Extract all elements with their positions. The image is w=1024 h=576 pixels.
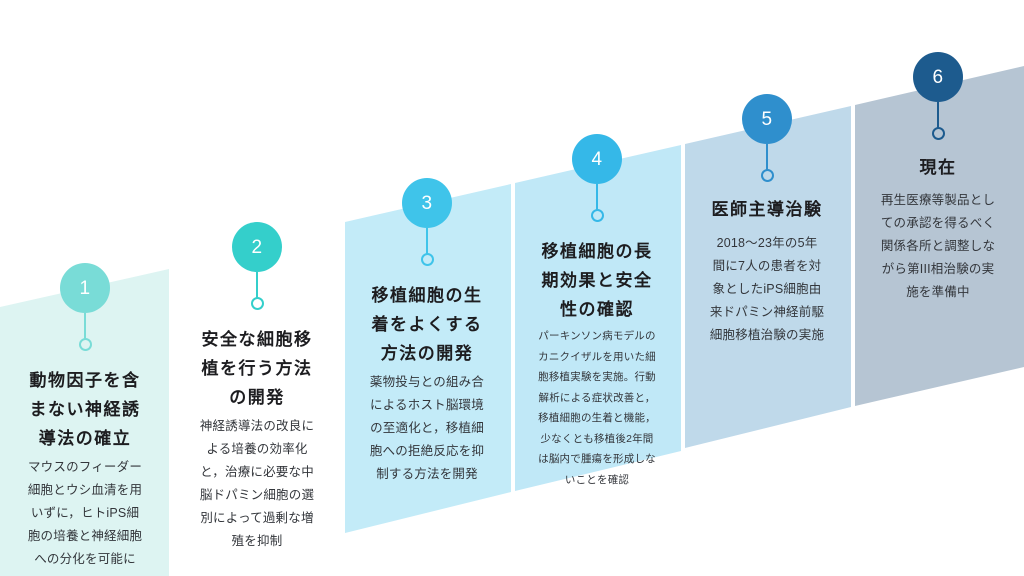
step-body-line: 胞移植実験を実施。行動 (512, 367, 682, 388)
timeline-step-5[interactable]: 5 医師主導治験 2018〜23年の5年 間に7人の患者を対 象としたiPS細胞… (682, 94, 852, 448)
step-body-line: 象としたiPS細胞由 (682, 278, 852, 301)
step-number-label-5: 5 (761, 110, 772, 129)
step-title-line: 性の確認 (512, 295, 682, 324)
step-title-line: 動物因子を含 (0, 366, 170, 395)
step-number-badge-1[interactable]: 1 (60, 263, 110, 313)
step-connector-line-5 (766, 144, 768, 170)
step-body-3: 薬物投与との組み合 によるホスト脳環境 の至適化と，移植細 胞への拒絶反応を抑 … (342, 371, 512, 486)
step-body-line: 移植細胞の生着と機能， (512, 408, 682, 429)
step-body-2: 神経誘導法の改良に よる培養の効率化 と，治療に必要な中 脳ドパミン細胞の選 別… (172, 415, 342, 553)
step-number-badge-4[interactable]: 4 (572, 134, 622, 184)
step-body-line: 来ドパミン神経前駆 (682, 301, 852, 324)
step-connector-ring-6 (932, 127, 945, 140)
step-title-line: 移植細胞の長 (512, 237, 682, 266)
timeline-step-3[interactable]: 3 移植細胞の生 着をよくする 方法の開発 薬物投与との組み合 によるホスト脳環… (342, 178, 512, 533)
step-body-line: への分化を可能に (0, 548, 170, 571)
step-body-line: と，治療に必要な中 (172, 461, 342, 484)
step-body-line: 胞への拒絶反応を抑 (342, 440, 512, 463)
step-connector-ring-4 (591, 209, 604, 222)
step-title-line: 安全な細胞移 (172, 325, 342, 354)
step-title-4: 移植細胞の長 期効果と安全 性の確認 (512, 237, 682, 324)
step-number-label-2: 2 (251, 238, 262, 257)
step-body-line: 再生医療等製品とし (852, 189, 1024, 212)
step-connector-line-4 (596, 184, 598, 210)
step-body-line: 細胞移植治験の実施 (682, 324, 852, 347)
step-body-line: 細胞とウシ血清を用 (0, 479, 170, 502)
step-connector-line-6 (937, 102, 939, 128)
step-title-line: 現在 (852, 153, 1024, 182)
step-title-3: 移植細胞の生 着をよくする 方法の開発 (342, 281, 512, 368)
step-body-line: 脳ドパミン細胞の選 (172, 484, 342, 507)
step-number-badge-5[interactable]: 5 (742, 94, 792, 144)
step-body-line: 胞の培養と神経細胞 (0, 525, 170, 548)
step-title-line: まない神経誘 (0, 395, 170, 424)
step-body-line: カニクイザルを用いた細 (512, 347, 682, 368)
step-number-label-4: 4 (591, 150, 602, 169)
step-body-5: 2018〜23年の5年 間に7人の患者を対 象としたiPS細胞由 来ドパミン神経… (682, 232, 852, 347)
step-connector-line-3 (426, 228, 428, 254)
step-marker-group-5: 5 (682, 94, 852, 182)
step-connector-line-2 (256, 272, 258, 298)
step-title-line: の開発 (172, 383, 342, 412)
infographic-canvas: 1 動物因子を含 まない神経誘 導法の確立 マウスのフィーダー 細胞とウシ血清を… (0, 0, 1024, 576)
step-connector-line-1 (84, 313, 86, 339)
step-connector-ring-2 (251, 297, 264, 310)
step-body-line: 神経誘導法の改良に (172, 415, 342, 438)
step-body-line: がら第III相治験の実 (852, 258, 1024, 281)
step-body-line: 関係各所と調整しな (852, 235, 1024, 258)
step-body-line: 解析による症状改善と， (512, 388, 682, 409)
timeline-step-1[interactable]: 1 動物因子を含 まない神経誘 導法の確立 マウスのフィーダー 細胞とウシ血清を… (0, 263, 170, 576)
step-body-line: よる培養の効率化 (172, 438, 342, 461)
step-title-line: 方法の開発 (342, 339, 512, 368)
step-marker-group-1: 1 (0, 263, 170, 351)
step-connector-ring-1 (79, 338, 92, 351)
step-number-badge-6[interactable]: 6 (913, 52, 963, 102)
step-connector-ring-5 (761, 169, 774, 182)
timeline-step-4[interactable]: 4 移植細胞の長 期効果と安全 性の確認 パーキンソン病モデルの カニクイザルを… (512, 134, 682, 491)
step-body-line: 2018〜23年の5年 (682, 232, 852, 255)
step-body-line: の至適化と，移植細 (342, 417, 512, 440)
step-title-line: 着をよくする (342, 310, 512, 339)
step-body-line: いことを確認 (512, 470, 682, 491)
timeline-step-2[interactable]: 2 安全な細胞移 植を行う方法 の開発 神経誘導法の改良に よる培養の効率化 と… (172, 222, 342, 576)
step-body-line: 施を準備中 (852, 281, 1024, 304)
step-body-line: は脳内で腫瘍を形成しな (512, 449, 682, 470)
step-title-line: 植を行う方法 (172, 354, 342, 383)
step-marker-group-2: 2 (172, 222, 342, 310)
step-marker-group-4: 4 (512, 134, 682, 222)
step-number-label-1: 1 (79, 279, 90, 298)
step-title-line: 期効果と安全 (512, 266, 682, 295)
step-body-line: 薬物投与との組み合 (342, 371, 512, 394)
step-title-line: 導法の確立 (0, 424, 170, 453)
step-body-line: 少なくとも移植後2年間 (512, 429, 682, 450)
step-number-badge-3[interactable]: 3 (402, 178, 452, 228)
step-body-line: マウスのフィーダー (0, 456, 170, 479)
step-body-line: 間に7人の患者を対 (682, 255, 852, 278)
step-body-6: 再生医療等製品とし ての承認を得るべく 関係各所と調整しな がら第III相治験の… (852, 189, 1024, 304)
step-connector-ring-3 (421, 253, 434, 266)
step-number-badge-2[interactable]: 2 (232, 222, 282, 272)
step-marker-group-6: 6 (852, 52, 1024, 140)
step-title-1: 動物因子を含 まない神経誘 導法の確立 (0, 366, 170, 453)
step-number-label-3: 3 (421, 194, 432, 213)
step-body-line: いずに，ヒトiPS細 (0, 502, 170, 525)
step-body-line: ての承認を得るべく (852, 212, 1024, 235)
step-title-2: 安全な細胞移 植を行う方法 の開発 (172, 325, 342, 412)
timeline-step-6[interactable]: 6 現在 再生医療等製品とし ての承認を得るべく 関係各所と調整しな がら第II… (852, 52, 1024, 406)
step-number-label-6: 6 (932, 68, 943, 87)
step-body-line: 殖を抑制 (172, 530, 342, 553)
step-title-line: 医師主導治験 (682, 195, 852, 224)
step-body-line: 別によって過剰な増 (172, 507, 342, 530)
step-body-line: パーキンソン病モデルの (512, 326, 682, 347)
step-title-5: 医師主導治験 (682, 195, 852, 224)
step-body-1: マウスのフィーダー 細胞とウシ血清を用 いずに，ヒトiPS細 胞の培養と神経細胞… (0, 456, 170, 571)
step-body-line: 制する方法を開発 (342, 463, 512, 486)
step-body-4: パーキンソン病モデルの カニクイザルを用いた細 胞移植実験を実施。行動 解析によ… (512, 326, 682, 490)
step-marker-group-3: 3 (342, 178, 512, 266)
step-title-6: 現在 (852, 153, 1024, 182)
step-title-line: 移植細胞の生 (342, 281, 512, 310)
step-body-line: によるホスト脳環境 (342, 394, 512, 417)
